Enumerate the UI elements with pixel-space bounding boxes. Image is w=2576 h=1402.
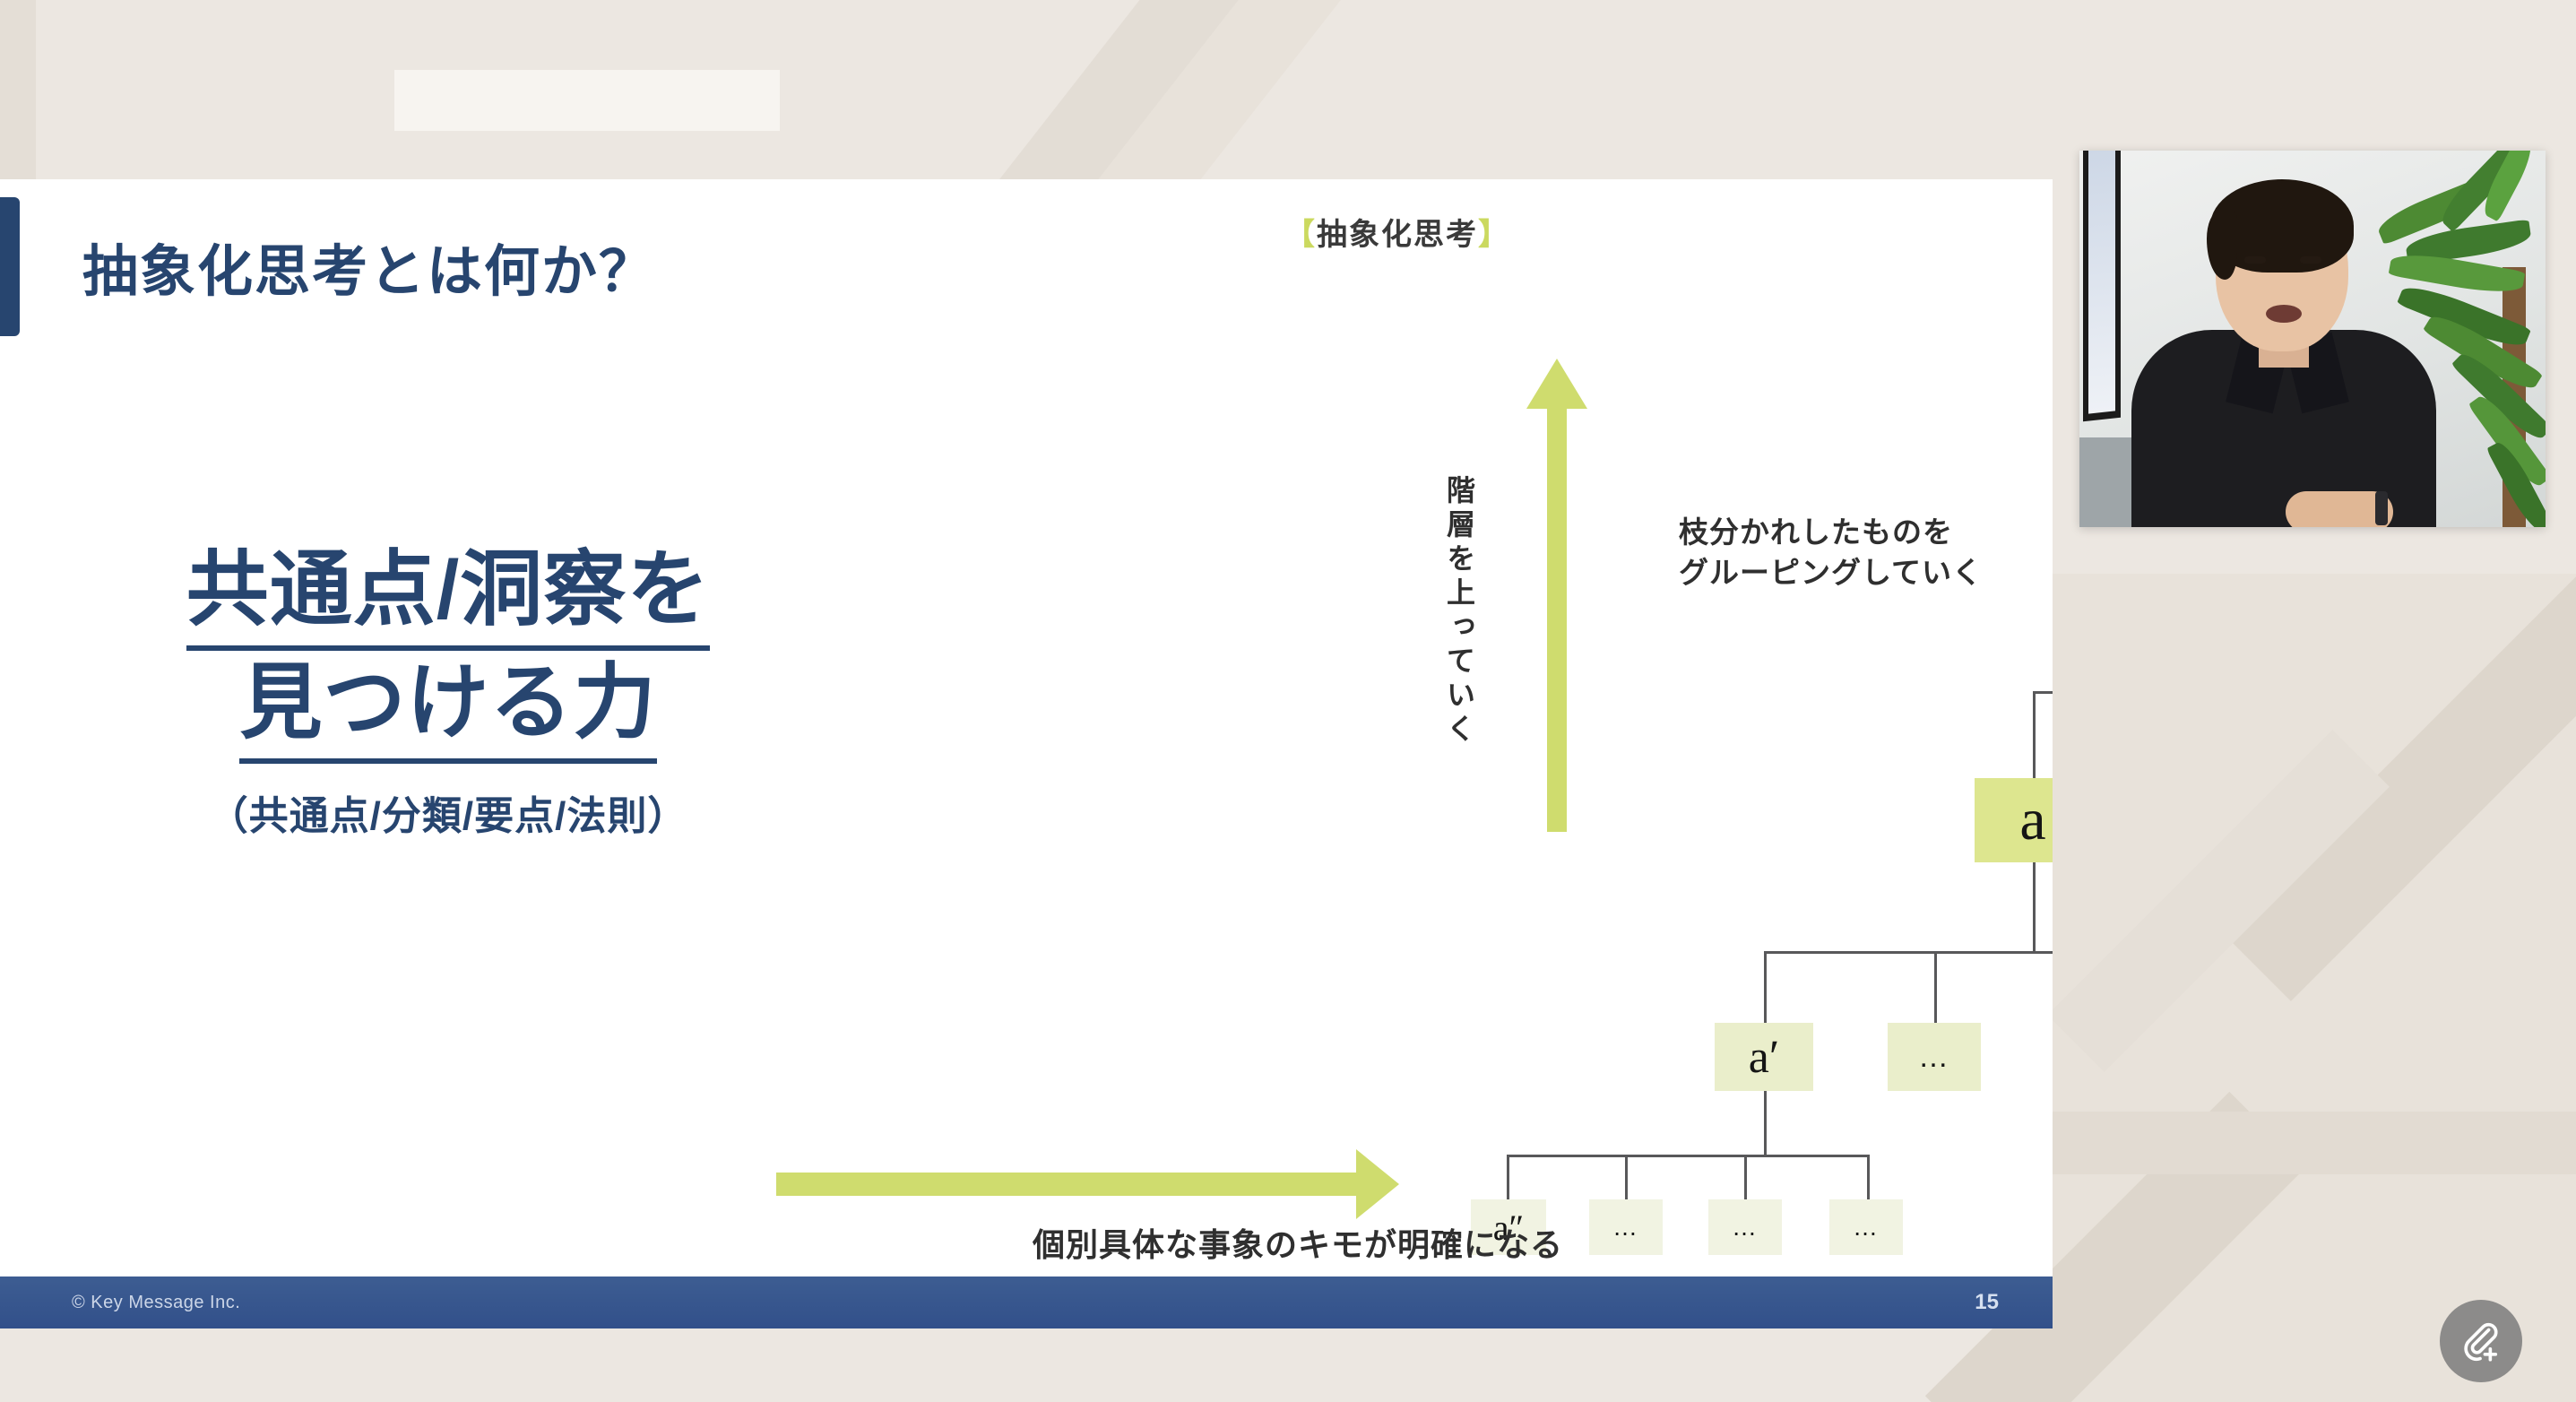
diagram-header-text: 抽象化思考 <box>1317 218 1478 252</box>
grouping-annotation-line-1: 枝分かれしたものを <box>1679 513 1983 553</box>
backdrop-diagonal-3 <box>2221 576 2576 1001</box>
connector-lv3-bar <box>1764 951 2053 954</box>
connector-lv4-bar <box>1507 1155 1870 1157</box>
abstraction-diagram: 【抽象化思考】 階層を上っていく 枝分かれしたものを グルーピングしていく A … <box>742 179 2053 1277</box>
backdrop-band-left <box>0 0 36 179</box>
footer-page-number: 15 <box>1975 1290 1999 1315</box>
key-message-block: 共通点/洞察を 見つける力 （共通点/分類/要点/法則） <box>63 538 834 841</box>
grouping-annotation: 枝分かれしたものを グルーピングしていく <box>1679 513 1983 593</box>
video-wall-picture-frame <box>2083 151 2121 421</box>
hierarchy-axis-label: 階層を上っていく <box>1432 475 1474 748</box>
connector-lv3-drop-2 <box>1934 951 1937 1034</box>
slide-footer: © Key Message Inc. 15 <box>0 1277 2053 1328</box>
concreteness-arrow-shaft <box>776 1173 1359 1196</box>
tree-node-a[interactable]: a <box>1975 778 2053 862</box>
concreteness-axis-label: 個別具体な事象のキモが明確になる <box>742 1219 1854 1266</box>
connector-aprime-stem <box>1764 1091 1767 1155</box>
diagram-header: 【抽象化思考】 <box>742 210 2053 254</box>
video-presenter-eye-left <box>2244 256 2266 264</box>
paperclip-plus-icon <box>2460 1320 2502 1362</box>
hierarchy-arrow-shaft <box>1547 403 1567 832</box>
backdrop-chip-top <box>394 70 780 131</box>
connector-a-child-stem <box>2033 862 2036 952</box>
key-message-line-1: 共通点/洞察を <box>63 538 834 651</box>
presentation-slide: 抽象化思考とは何か？ 共通点/洞察を 見つける力 （共通点/分類/要点/法則） … <box>0 179 2053 1277</box>
video-presenter-watch <box>2375 491 2388 525</box>
title-accent-bar <box>0 197 20 336</box>
video-presenter-eye-right <box>2300 256 2321 264</box>
video-presenter-mouth <box>2266 305 2302 323</box>
video-presenter-hair <box>2210 179 2354 273</box>
key-message-line-2: 見つける力 <box>63 651 834 764</box>
key-message-subtext: （共通点/分類/要点/法則） <box>63 783 834 841</box>
presenter-video-inset[interactable] <box>2079 151 2546 527</box>
concreteness-arrow-head <box>1356 1149 1399 1219</box>
footer-copyright: © Key Message Inc. <box>72 1293 240 1313</box>
connector-lv2-drop-1 <box>2033 691 2036 781</box>
connector-lv3-drop-1 <box>1764 951 1767 1034</box>
tree-node-a-prime[interactable]: a′ <box>1715 1023 1813 1091</box>
grouping-annotation-line-2: グルーピングしていく <box>1679 553 1983 593</box>
backdrop-band-right <box>2053 574 2576 1402</box>
page-title: 抽象化思考とは何か？ <box>82 226 656 307</box>
backdrop-strip-right <box>2017 1112 2576 1174</box>
diagram-header-open-bracket: 【 <box>1284 218 1317 252</box>
backdrop-diagonal-4 <box>2047 730 2390 1072</box>
connector-lv2-bar <box>2033 691 2053 694</box>
tree-node-lv3-ellipsis-1[interactable]: … <box>1888 1023 1981 1091</box>
diagram-header-close-bracket: 】 <box>1478 218 1510 252</box>
attach-add-button[interactable] <box>2440 1300 2522 1382</box>
app-root: 抽象化思考とは何か？ 共通点/洞察を 見つける力 （共通点/分類/要点/法則） … <box>0 0 2576 1402</box>
hierarchy-arrow-head <box>1526 359 1587 409</box>
